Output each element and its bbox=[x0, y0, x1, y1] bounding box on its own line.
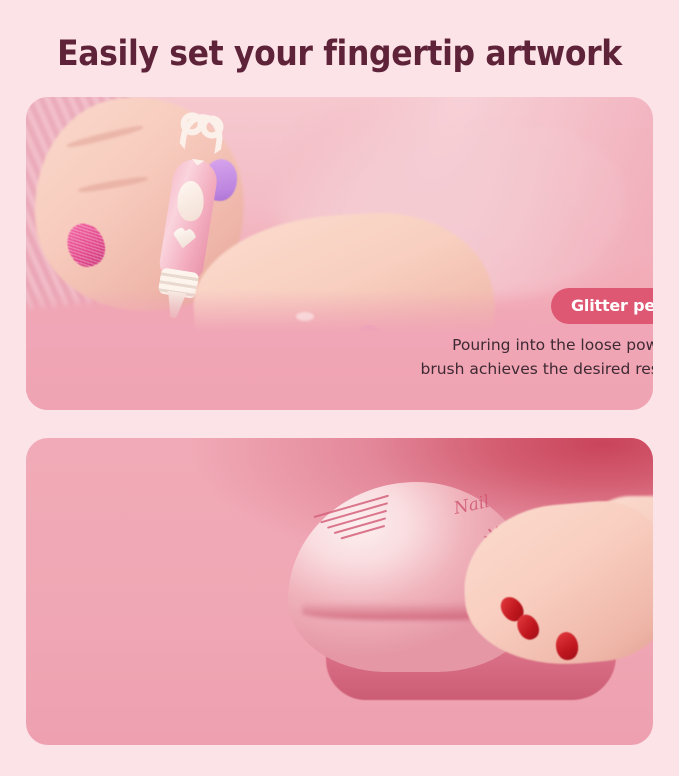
nail-dryer-photo: Nail bbox=[26, 438, 653, 745]
page-title: Easily set your fingertip artwork bbox=[34, 34, 645, 74]
glitter-pen-caption-line2: brush achieves the desired result. bbox=[394, 357, 653, 381]
badge-glitter-pen: Glitter pen bbox=[551, 288, 653, 324]
glitter-pen-card: Glitter pen Pouring into the loose powde… bbox=[26, 97, 653, 410]
nail-dryer-card: Nail Nail dryer Strong Wind Output Nail … bbox=[26, 438, 653, 745]
glitter-pen-caption: Pouring into the loose powder brush achi… bbox=[394, 333, 653, 381]
glitter-pen-caption-line1: Pouring into the loose powder bbox=[394, 333, 653, 357]
pen-white-emblem bbox=[177, 181, 204, 221]
